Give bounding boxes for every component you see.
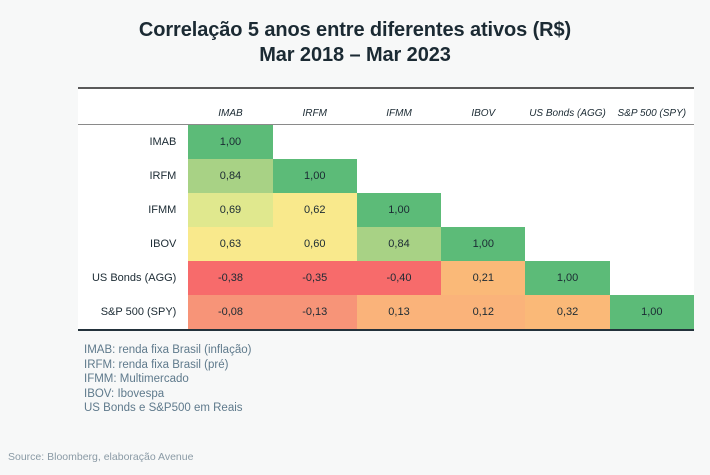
matrix-cell: 1,00 [441, 227, 525, 261]
matrix-cell: 1,00 [273, 159, 357, 193]
source-note: Source: Bloomberg, elaboração Avenue [8, 451, 193, 463]
matrix-cell-empty [610, 261, 694, 295]
row-label: IRFM [78, 159, 188, 193]
row-label: S&P 500 (SPY) [78, 295, 188, 330]
matrix-cell-empty [525, 193, 609, 227]
legend-note: IMAB: renda fixa Brasil (inflação) [84, 343, 251, 358]
matrix-cell-empty [525, 125, 609, 160]
matrix-cell-empty [441, 125, 525, 160]
matrix-cell: 0,32 [525, 295, 609, 330]
matrix-cell-empty [525, 227, 609, 261]
matrix-cell-empty [357, 125, 441, 160]
matrix-cell: -0,08 [188, 295, 272, 330]
legend-note: IFMM: Multimercado [84, 372, 251, 387]
matrix-cell: 1,00 [357, 193, 441, 227]
column-header-irfm: IRFM [273, 88, 357, 125]
matrix-row: US Bonds (AGG)-0,38-0,35-0,400,211,00 [78, 261, 694, 295]
column-header-imab: IMAB [188, 88, 272, 125]
matrix-cell: 0,62 [273, 193, 357, 227]
matrix-row: IMAB1,00 [78, 125, 694, 160]
legend-note: IBOV: Ibovespa [84, 387, 251, 402]
legend-notes: IMAB: renda fixa Brasil (inflação)IRFM: … [84, 343, 251, 416]
matrix-cell: -0,40 [357, 261, 441, 295]
matrix-body: IMAB1,00IRFM0,841,00IFMM0,690,621,00IBOV… [78, 125, 694, 331]
row-label: US Bonds (AGG) [78, 261, 188, 295]
matrix-cell: -0,13 [273, 295, 357, 330]
matrix-cell: 0,69 [188, 193, 272, 227]
matrix-cell: 0,21 [441, 261, 525, 295]
matrix-cell-empty [357, 159, 441, 193]
matrix-cell: 1,00 [525, 261, 609, 295]
column-header-row: IMAB IRFM IFMM IBOV US Bonds (AGG) S&P 5… [78, 88, 694, 125]
matrix-row: IFMM0,690,621,00 [78, 193, 694, 227]
matrix-cell: 0,84 [188, 159, 272, 193]
legend-note: US Bonds e S&P500 em Reais [84, 401, 251, 416]
row-label: IBOV [78, 227, 188, 261]
matrix-cell: 0,13 [357, 295, 441, 330]
matrix-row: IRFM0,841,00 [78, 159, 694, 193]
page-title: Correlação 5 anos entre diferentes ativo… [0, 0, 710, 68]
title-line-1: Correlação 5 anos entre diferentes ativo… [139, 19, 571, 41]
matrix-row: IBOV0,630,600,841,00 [78, 227, 694, 261]
legend-note: IRFM: renda fixa Brasil (pré) [84, 358, 251, 373]
matrix-corner-cell [78, 88, 188, 125]
matrix-cell: 1,00 [610, 295, 694, 330]
column-header-us-bonds-agg: US Bonds (AGG) [525, 88, 609, 125]
matrix-cell-empty [610, 227, 694, 261]
matrix-cell-empty [610, 159, 694, 193]
matrix-header: IMAB IRFM IFMM IBOV US Bonds (AGG) S&P 5… [78, 88, 694, 125]
row-label: IFMM [78, 193, 188, 227]
matrix-cell: 0,84 [357, 227, 441, 261]
matrix-cell-empty [441, 159, 525, 193]
matrix-cell: 0,63 [188, 227, 272, 261]
matrix-cell: -0,35 [273, 261, 357, 295]
matrix-row: S&P 500 (SPY)-0,08-0,130,130,120,321,00 [78, 295, 694, 330]
matrix-cell-empty [610, 125, 694, 160]
matrix-cell: -0,38 [188, 261, 272, 295]
column-header-ibov: IBOV [441, 88, 525, 125]
matrix-cell: 0,12 [441, 295, 525, 330]
correlation-matrix-panel: IMAB IRFM IFMM IBOV US Bonds (AGG) S&P 5… [78, 87, 694, 331]
title-line-2: Mar 2018 – Mar 2023 [0, 43, 710, 68]
column-header-sp500-spy: S&P 500 (SPY) [610, 88, 694, 125]
matrix-cell-empty [441, 193, 525, 227]
matrix-cell: 1,00 [188, 125, 272, 160]
matrix-cell-empty [525, 159, 609, 193]
matrix-cell: 0,60 [273, 227, 357, 261]
correlation-matrix-table: IMAB IRFM IFMM IBOV US Bonds (AGG) S&P 5… [78, 87, 694, 331]
matrix-cell-empty [610, 193, 694, 227]
row-label: IMAB [78, 125, 188, 160]
matrix-cell-empty [273, 125, 357, 160]
column-header-ifmm: IFMM [357, 88, 441, 125]
